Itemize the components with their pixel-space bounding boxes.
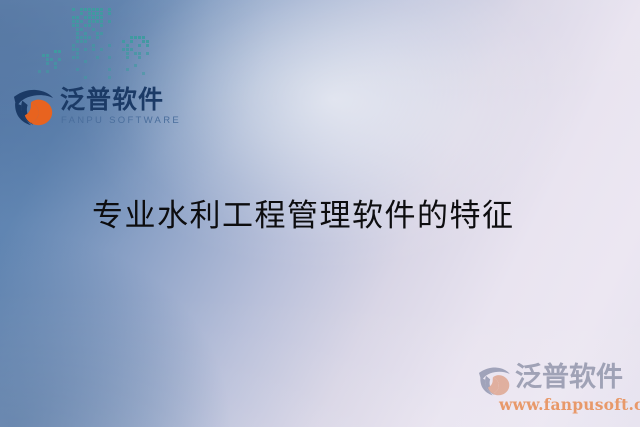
watermark-name-cn: 泛普软件: [515, 362, 623, 394]
brand-logo-name-cn: 泛普软件: [60, 86, 164, 114]
watermark-logo-mark-icon: [478, 366, 512, 396]
page-title: 专业水利工程管理软件的特征: [92, 196, 515, 236]
brand-logo-name-en: FANPU SOFTWARE: [61, 115, 181, 126]
pixelated-bar-chart-graphic: [38, 2, 150, 84]
slide-canvas: 泛普软件 FANPU SOFTWARE 专业水利工程管理软件的特征 泛普软件 w…: [0, 0, 640, 427]
brand-logo: 泛普软件 FANPU SOFTWARE: [12, 86, 162, 132]
watermark: 泛普软件 www.fanpusoft.com: [478, 362, 638, 420]
watermark-url: www.fanpusoft.com: [499, 395, 640, 414]
fanpu-logo-mark-icon: [12, 88, 56, 126]
